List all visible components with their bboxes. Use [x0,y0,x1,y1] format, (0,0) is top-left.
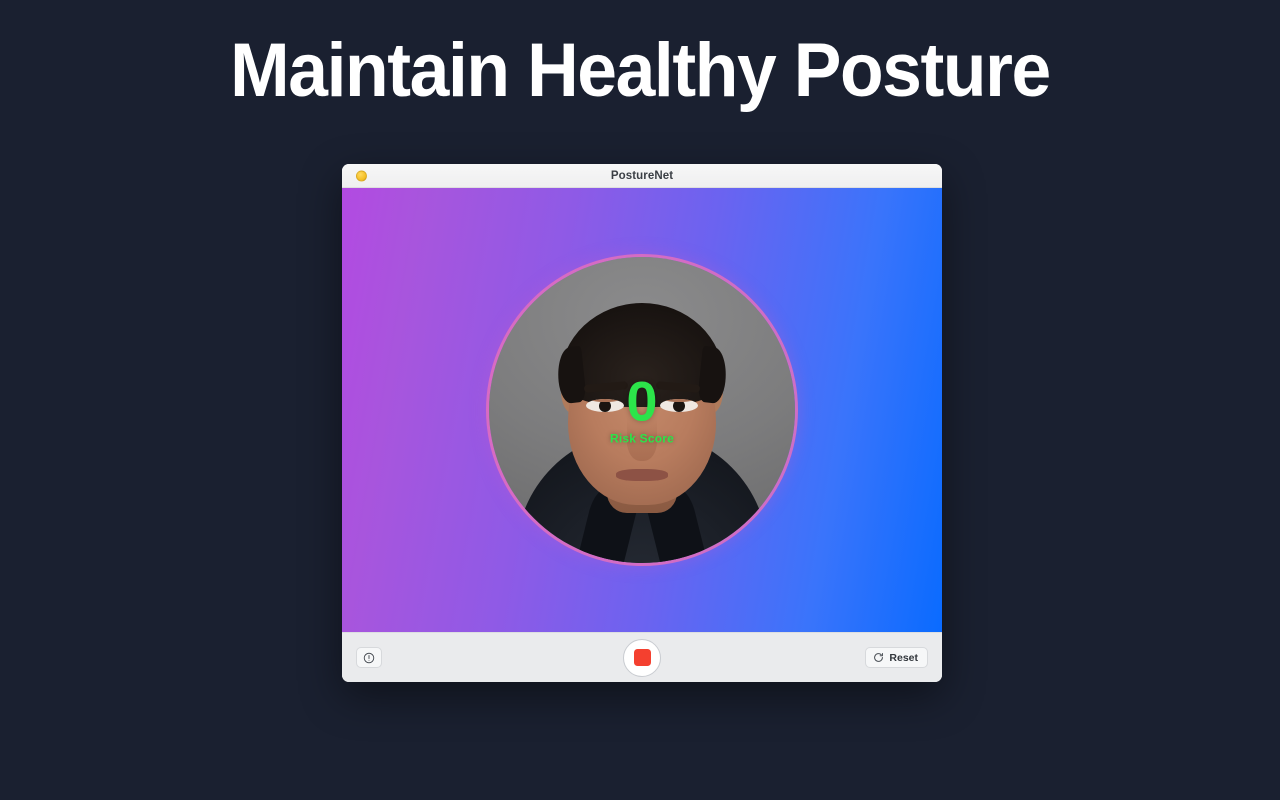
person-figure [489,257,795,563]
refresh-icon [873,652,884,663]
stop-square-icon [634,649,651,666]
page-title: Maintain Healthy Posture [38,26,1241,116]
nose [627,417,657,461]
window-titlebar: PostureNet [342,164,942,188]
window-title: PostureNet [611,170,673,182]
mouth [616,469,668,481]
bottom-toolbar: Reset [342,632,942,682]
app-window: PostureNet [342,164,942,682]
eye-left [586,399,624,412]
video-feed-circle[interactable]: 0 Risk Score [489,257,795,563]
info-circle-icon [363,652,375,664]
reset-button[interactable]: Reset [865,647,928,668]
reset-button-label: Reset [889,652,918,664]
eye-right [660,399,698,412]
info-button[interactable] [356,647,382,668]
video-stage: 0 Risk Score [342,188,942,632]
eyelid-left [586,399,624,402]
minimize-dot-icon[interactable] [356,170,367,181]
eyelid-right [660,399,698,402]
stop-recording-button[interactable] [623,639,661,677]
